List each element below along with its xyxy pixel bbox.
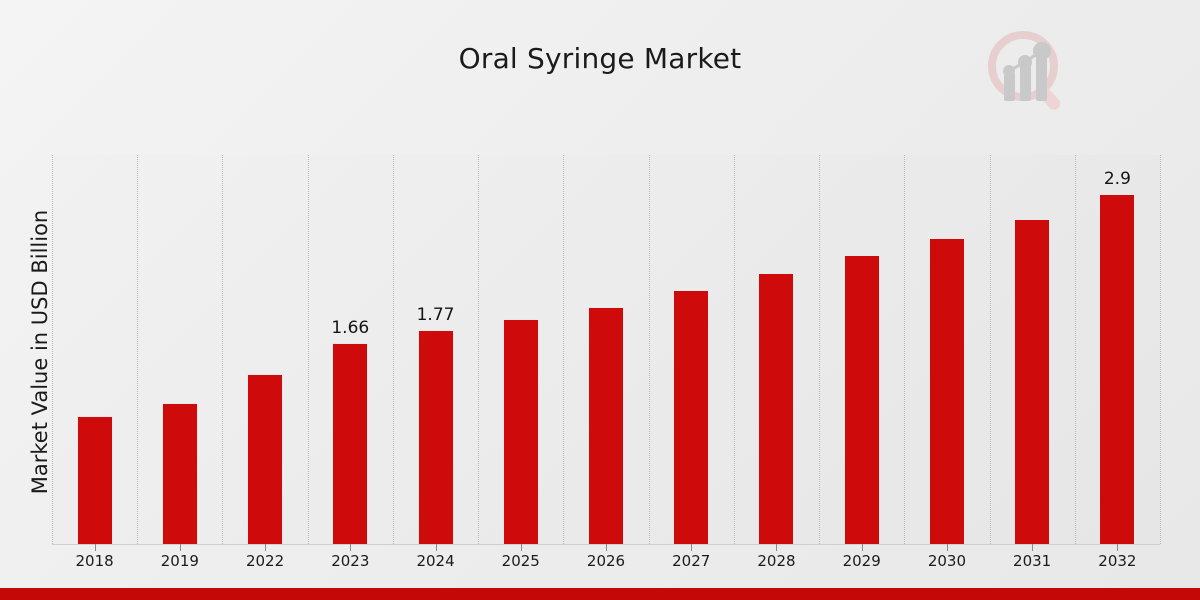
x-tick-2028 [776,544,777,551]
x-tick-label-2032: 2032 [1087,552,1147,570]
bar-2029[interactable] [844,255,880,544]
x-tick-2018 [95,544,96,551]
bar-2019[interactable] [162,403,198,544]
x-tick-label-2030: 2030 [917,552,977,570]
x-tick-2025 [521,544,522,551]
gridline [819,155,821,544]
gridline [308,155,310,544]
gridline [990,155,992,544]
bar-2023[interactable] [332,343,368,544]
bar-2032[interactable] [1099,194,1135,544]
bar-2028[interactable] [758,273,794,544]
x-tick-label-2031: 2031 [1002,552,1062,570]
x-tick-2026 [606,544,607,551]
x-tick-label-2029: 2029 [832,552,892,570]
x-tick-2030 [947,544,948,551]
x-tick-label-2025: 2025 [491,552,551,570]
x-tick-label-2026: 2026 [576,552,636,570]
x-tick-2024 [436,544,437,551]
bar-2027[interactable] [673,290,709,544]
bar-2031[interactable] [1014,219,1050,544]
gridline [393,155,395,544]
gridline [52,155,54,544]
bar-2018[interactable] [77,416,113,544]
bar-value-label-2023: 1.66 [320,318,380,338]
bar-2022[interactable] [247,374,283,544]
x-tick-label-2023: 2023 [320,552,380,570]
footer-accent-bar [0,588,1200,600]
bar-2025[interactable] [503,319,539,544]
gridline [649,155,651,544]
gridline [478,155,480,544]
x-tick-2023 [350,544,351,551]
logo-icon [982,26,1072,116]
bar-value-label-2032: 2.9 [1087,169,1147,189]
market-research-logo [982,26,1072,116]
bar-value-label-2024: 1.77 [406,305,466,325]
bar-2030[interactable] [929,238,965,544]
bar-2024[interactable] [418,330,454,544]
x-tick-2032 [1117,544,1118,551]
x-tick-2027 [691,544,692,551]
gridline [563,155,565,544]
x-tick-label-2019: 2019 [150,552,210,570]
gridline [222,155,224,544]
x-tick-2031 [1032,544,1033,551]
x-tick-label-2024: 2024 [406,552,466,570]
gridline [137,155,139,544]
y-axis-title: Market Value in USD Billion [28,92,52,600]
x-tick-2022 [265,544,266,551]
gridline [734,155,736,544]
x-tick-label-2022: 2022 [235,552,295,570]
x-tick-2019 [180,544,181,551]
gridline [904,155,906,544]
gridline [1160,155,1162,544]
x-tick-label-2027: 2027 [661,552,721,570]
bar-2026[interactable] [588,307,624,544]
chart-canvas: Oral Syringe Market Market Value in USD … [0,0,1200,600]
x-tick-label-2018: 2018 [65,552,125,570]
x-tick-label-2028: 2028 [746,552,806,570]
gridline [1075,155,1077,544]
x-tick-2029 [862,544,863,551]
